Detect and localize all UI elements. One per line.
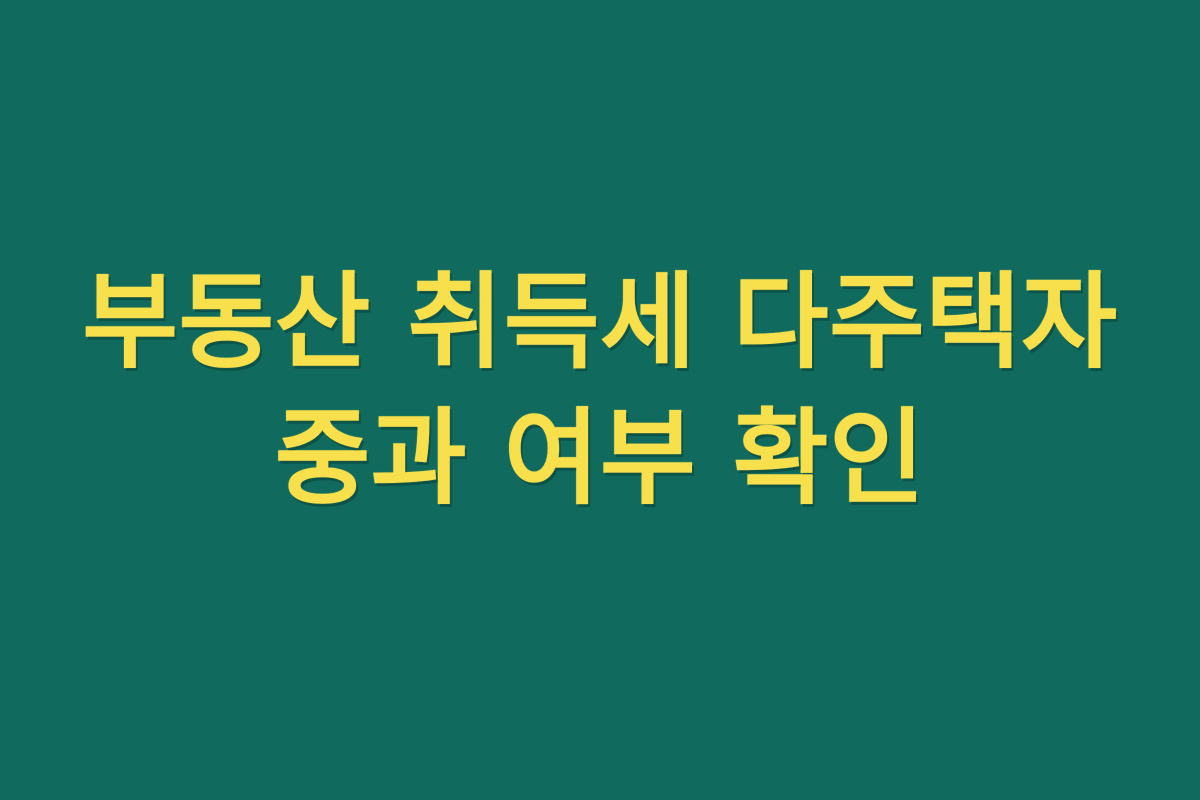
headline-line-1: 부동산 취득세 다주택자 [40, 254, 1160, 390]
headline-block: 부동산 취득세 다주택자 중과 여부 확인 [0, 254, 1200, 526]
headline-line-2: 중과 여부 확인 [40, 390, 1160, 526]
banner-canvas: 부동산 취득세 다주택자 중과 여부 확인 [0, 0, 1200, 800]
